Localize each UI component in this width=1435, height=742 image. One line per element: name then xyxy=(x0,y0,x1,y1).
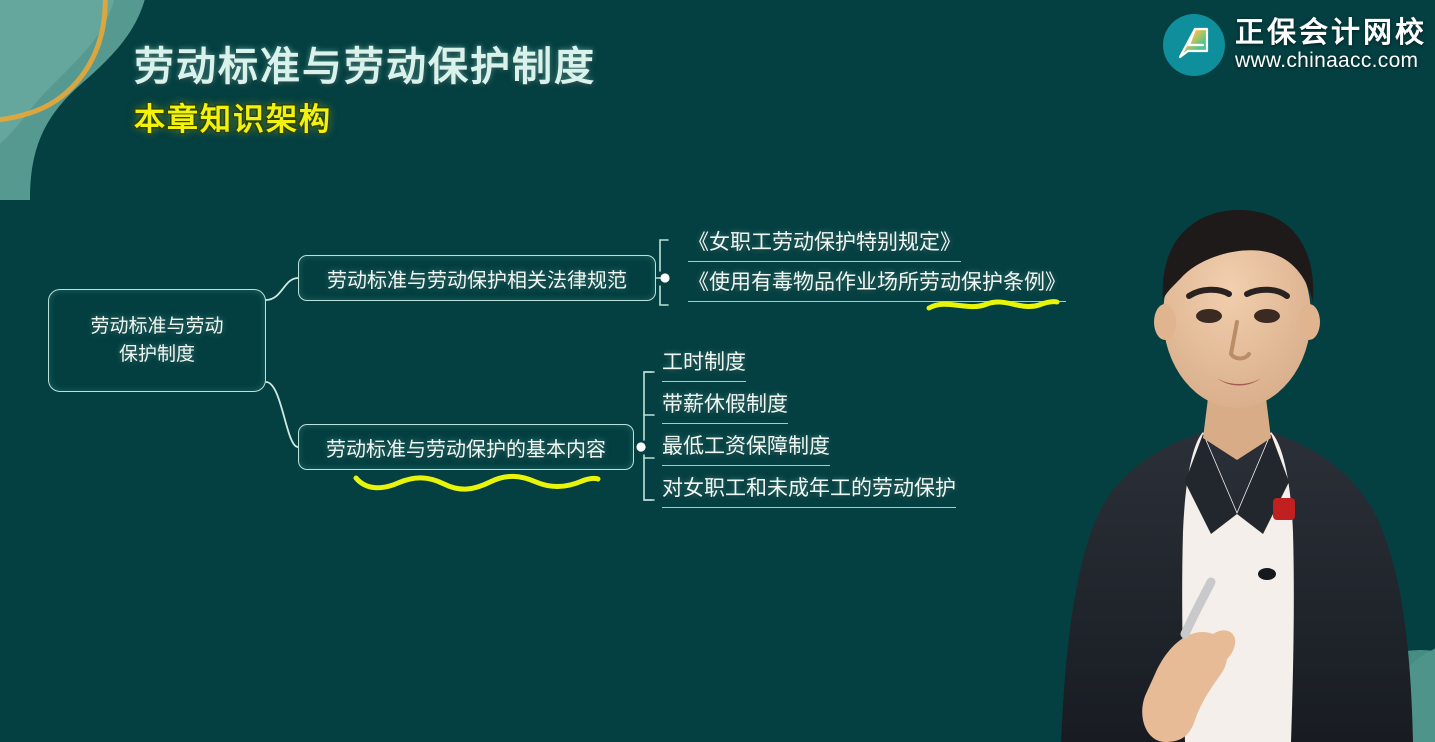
brand-url: www.chinaacc.com xyxy=(1235,50,1427,72)
bracket-branch2 xyxy=(644,372,652,500)
mindmap-branch-label-2: 劳动标准与劳动保护的基本内容 xyxy=(326,433,606,462)
mindmap-leaf-b1-2[interactable]: 《使用有毒物品作业场所劳动保护条例》 xyxy=(688,266,1066,302)
page-subtitle: 本章知识架构 xyxy=(134,102,596,138)
connector-root-to-branch2 xyxy=(266,382,298,447)
mindmap-branch-node-1[interactable]: 劳动标准与劳动保护相关法律规范 xyxy=(298,255,656,301)
presenter-eye-left xyxy=(1196,309,1222,323)
mindmap-root-node[interactable]: 劳动标准与劳动 保护制度 xyxy=(48,289,266,392)
mindmap-leaf-b2-3[interactable]: 最低工资保障制度 xyxy=(662,430,830,466)
presenter-lapel-pin xyxy=(1273,498,1295,520)
mindmap-root-line2: 保护制度 xyxy=(90,341,223,369)
presenter-eye-right xyxy=(1254,309,1280,323)
connector-root-to-branch1 xyxy=(266,278,298,300)
node-dot-branch2 xyxy=(636,442,645,451)
mindmap-leaf-b2-2[interactable]: 带薪休假制度 xyxy=(662,388,788,424)
node-dot-branch1 xyxy=(660,273,669,282)
lecture-slide: 劳动标准与劳动保护制度 本章知识架构 正保会计网校 www.china xyxy=(0,0,1435,742)
brand-name: 正保会计网校 xyxy=(1235,18,1427,48)
presenter-ear-left xyxy=(1154,304,1176,340)
mindmap-branch-node-2[interactable]: 劳动标准与劳动保护的基本内容 xyxy=(298,424,634,470)
brand-logo[interactable]: 正保会计网校 www.chinaacc.com xyxy=(1163,14,1427,76)
mindmap-leaf-b1-1[interactable]: 《女职工劳动保护特别规定》 xyxy=(688,226,961,262)
mindmap-branch-label-1: 劳动标准与劳动保护相关法律规范 xyxy=(327,264,627,293)
mindmap-root-line1: 劳动标准与劳动 xyxy=(90,313,223,341)
mindmap-leaf-b2-4[interactable]: 对女职工和未成年工的劳动保护 xyxy=(662,472,956,508)
page-title: 劳动标准与劳动保护制度 xyxy=(134,44,596,90)
presenter-clip-mic xyxy=(1258,568,1276,580)
presenter-video-overlay xyxy=(1035,182,1435,742)
slide-header: 劳动标准与劳动保护制度 本章知识架构 xyxy=(134,44,596,138)
chinaacc-book-logo-icon xyxy=(1163,14,1225,76)
mindmap-leaf-b2-1[interactable]: 工时制度 xyxy=(662,346,746,382)
bracket-branch1 xyxy=(660,240,668,305)
presenter-ear-right xyxy=(1298,304,1320,340)
